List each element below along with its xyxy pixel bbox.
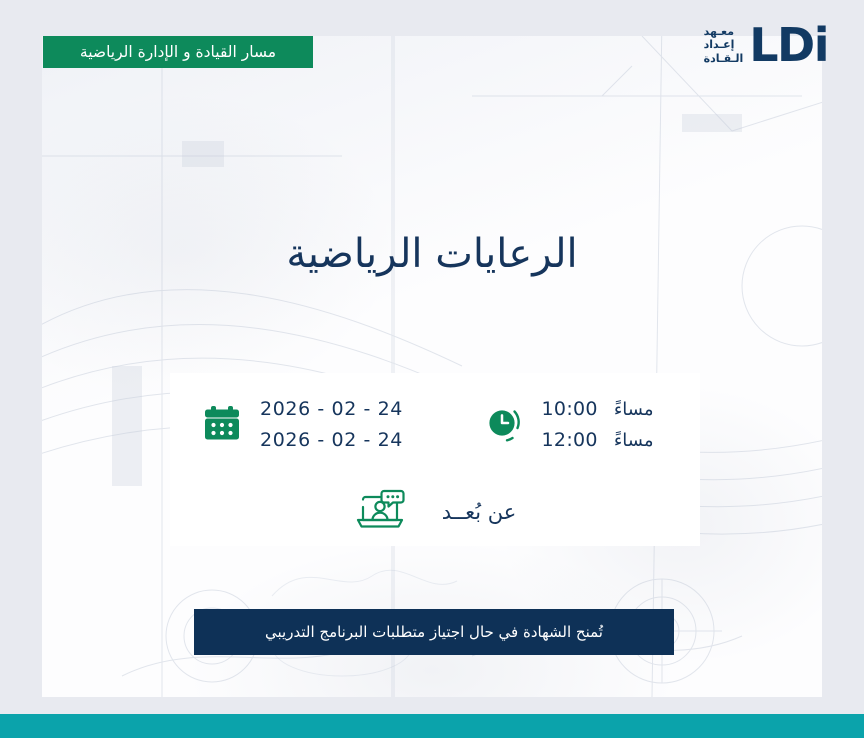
page-title: الرعايات الرياضية xyxy=(42,231,822,277)
ldi-logo: معـهد إعـداد الـقـادة LDi xyxy=(704,22,828,68)
poster-card: الرعايات الرياضية مساءً 10:00 مساءً 12:0… xyxy=(42,36,822,697)
time-end-value: 12:00 xyxy=(542,427,598,455)
date-end: 2026 - 02 - 24 xyxy=(260,427,403,455)
date-start: 2026 - 02 - 24 xyxy=(260,396,403,424)
time-start-line: مساءً 10:00 xyxy=(542,396,654,424)
time-start-meridiem: مساءً xyxy=(614,397,654,423)
time-end-line: مساءً 12:00 xyxy=(542,427,654,455)
clock-icon xyxy=(482,402,524,448)
logo-word-line1: معـهد xyxy=(704,25,734,38)
info-row-mode: عن بُعــد xyxy=(170,477,700,546)
background-wash xyxy=(42,36,822,697)
time-end-meridiem: مساءً xyxy=(614,428,654,454)
logo-mark-ldi: LDi xyxy=(749,22,828,68)
online-laptop-icon xyxy=(354,487,406,537)
bottom-teal-strip xyxy=(0,714,864,738)
mode-block: عن بُعــد xyxy=(354,487,517,537)
blueprint-watermark xyxy=(42,36,822,697)
course-info-card: مساءً 10:00 مساءً 12:00 xyxy=(170,373,700,546)
info-row-schedule: مساءً 10:00 مساءً 12:00 xyxy=(170,373,700,477)
logo-word-line3: الـقـادة xyxy=(704,52,744,65)
date-values: 2026 - 02 - 24 2026 - 02 - 24 xyxy=(260,396,403,454)
logo-word-line2: إعـداد xyxy=(704,38,735,51)
logo-arabic-words: معـهد إعـداد الـقـادة xyxy=(704,25,744,65)
time-start-value: 10:00 xyxy=(542,396,598,424)
certificate-note-banner: تُمنح الشهادة في حال اجتياز متطلبات البر… xyxy=(194,609,674,655)
date-block: 2026 - 02 - 24 2026 - 02 - 24 xyxy=(170,396,435,454)
mode-label: عن بُعــد xyxy=(442,500,517,524)
calendar-icon xyxy=(202,403,242,447)
time-block: مساءً 10:00 مساءً 12:00 xyxy=(435,396,700,454)
category-banner: مسار القيادة و الإدارة الرياضية xyxy=(43,36,313,68)
time-values: مساءً 10:00 مساءً 12:00 xyxy=(542,396,654,454)
